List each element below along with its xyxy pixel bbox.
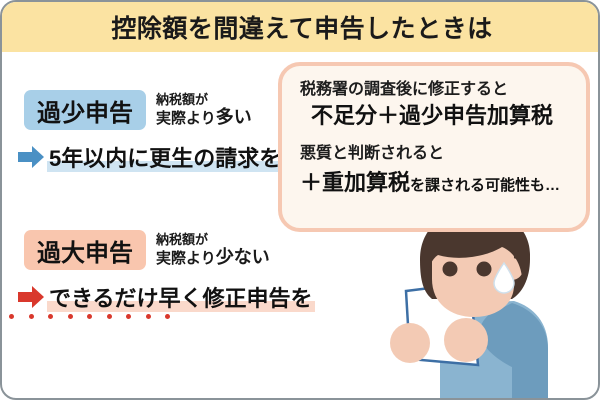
case-note-emphasis: 多い [216,107,252,127]
case-note-bottom: 実際より多い [156,107,252,128]
page-title: 控除額を間違えて申告したときは [111,9,492,45]
penalty-callout-panel: 税務署の調査後に修正すると 不足分＋過少申告加算税 悪質と判断されると ＋重加算… [278,62,590,232]
hand-near [444,318,488,362]
case-row-understated: 過少申告 納税額が 実際より多い [2,90,292,130]
action-row-overstated: できるだけ早く修正申告を [2,281,292,313]
case-block-overstated: 過大申告 納税額が 実際より少ない できるだけ早く修正申告を [2,230,292,319]
infographic-root: 控除額を間違えて申告したときは 過少申告 納税額が 実際より多い 5年以内に更生… [0,0,600,400]
case-note-top: 納税額が [156,232,270,247]
case-note-top: 納税額が [156,92,252,107]
left-column: 過少申告 納税額が 実際より多い 5年以内に更生の請求を 過大申告 [2,52,292,400]
emphasis-dot [29,314,34,319]
emphasis-dot [165,314,170,319]
callout-line-1: 税務署の調査後に修正すると [300,80,570,99]
case-row-overstated: 過大申告 納税額が 実際より少ない [2,230,292,270]
action-text-understated: 5年以内に更生の請求を [49,141,281,173]
hand-far [390,323,430,363]
callout-line-4-tail: を課される可能性も… [410,177,560,194]
badge-understated: 過少申告 [24,90,146,130]
callout-group-2: 悪質と判断されると ＋重加算税を課される可能性も… [300,144,570,197]
arrow-right-icon [16,284,46,310]
case-block-understated: 過少申告 納税額が 実際より多い 5年以内に更生の請求を [2,90,292,173]
emphasis-dot [48,314,53,319]
emphasis-dot [126,314,131,319]
arrow-right-icon [16,144,46,170]
worried-person-illustration [362,207,600,400]
emphasis-dot [87,314,92,319]
callout-line-4: ＋重加算税を課される可能性も… [300,165,570,197]
action-row-understated: 5年以内に更生の請求を [2,141,292,173]
action-text-wrap-understated: 5年以内に更生の請求を [49,141,281,173]
case-note-understated: 納税額が 実際より多い [156,92,252,129]
badge-overstated: 過大申告 [24,230,146,270]
callout-line-4-emphasis: ＋重加算税 [300,170,410,195]
eye-left [443,262,458,277]
header-banner: 控除額を間違えて申告したときは [2,2,600,52]
emphasis-dot [107,314,112,319]
callout-line-2: 不足分＋過少申告加算税 [300,102,570,130]
callout-line-3: 悪質と判断されると [300,144,570,163]
emphasis-dots [5,314,292,319]
case-note-prefix: 実際より [156,110,216,127]
emphasis-dot [9,314,14,319]
action-text-wrap-overstated: できるだけ早く修正申告を [49,281,313,313]
action-text-overstated: できるだけ早く修正申告を [49,281,313,313]
case-note-prefix: 実際より [156,250,216,267]
emphasis-dot [68,314,73,319]
eye-right [477,262,492,277]
case-note-overstated: 納税額が 実際より少ない [156,232,270,269]
case-note-bottom: 実際より少ない [156,247,270,268]
case-note-emphasis: 少ない [216,247,270,267]
emphasis-dot [146,314,151,319]
